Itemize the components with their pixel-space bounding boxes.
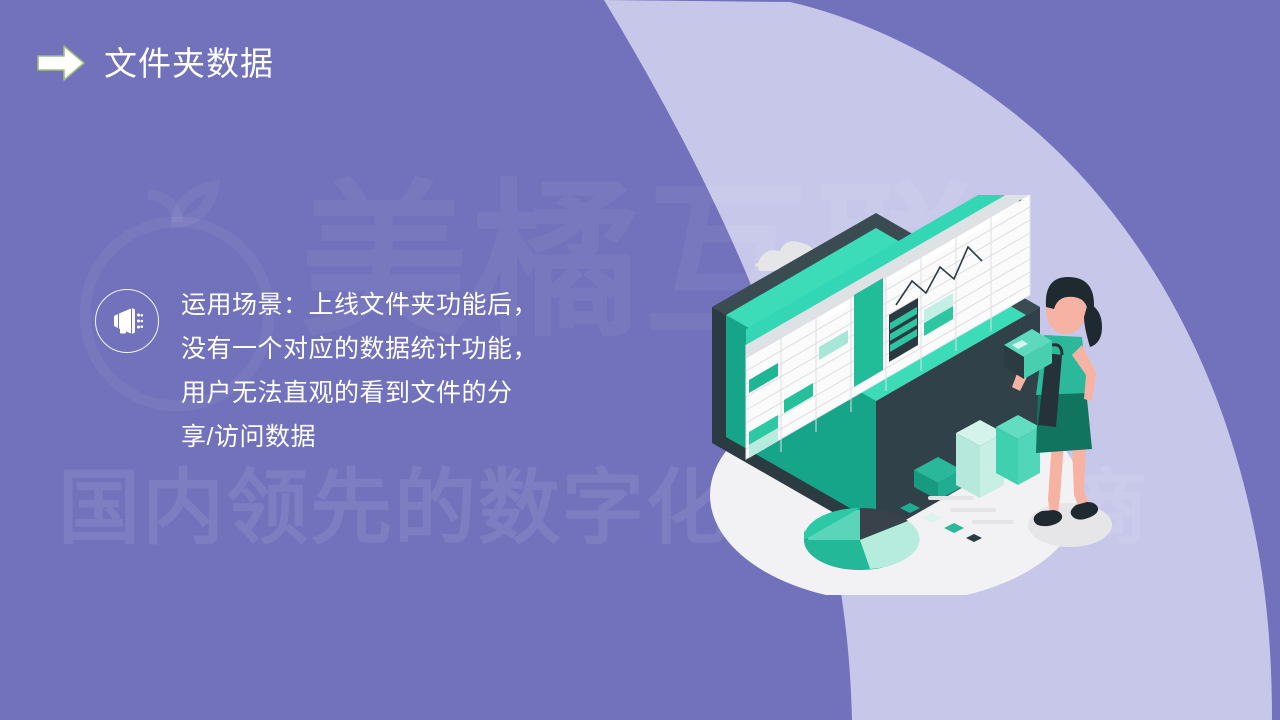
pie-chart	[804, 508, 920, 570]
megaphone-badge	[95, 289, 159, 353]
isometric-analytics-scene	[700, 195, 1120, 595]
slide-canvas: 美橘互联 国内领先的数字化营销服务商	[0, 0, 1280, 720]
arrow-right-icon	[36, 44, 86, 82]
megaphone-icon	[110, 307, 144, 335]
slide-heading: 文件夹数据	[36, 44, 274, 82]
page-title: 文件夹数据	[104, 47, 274, 80]
body-paragraph: 运用场景：上线文件夹功能后， 没有一个对应的数据统计功能， 用户无法直观的看到文…	[181, 283, 538, 459]
illustration	[700, 195, 1120, 595]
content-block: 运用场景：上线文件夹功能后， 没有一个对应的数据统计功能， 用户无法直观的看到文…	[95, 283, 538, 459]
